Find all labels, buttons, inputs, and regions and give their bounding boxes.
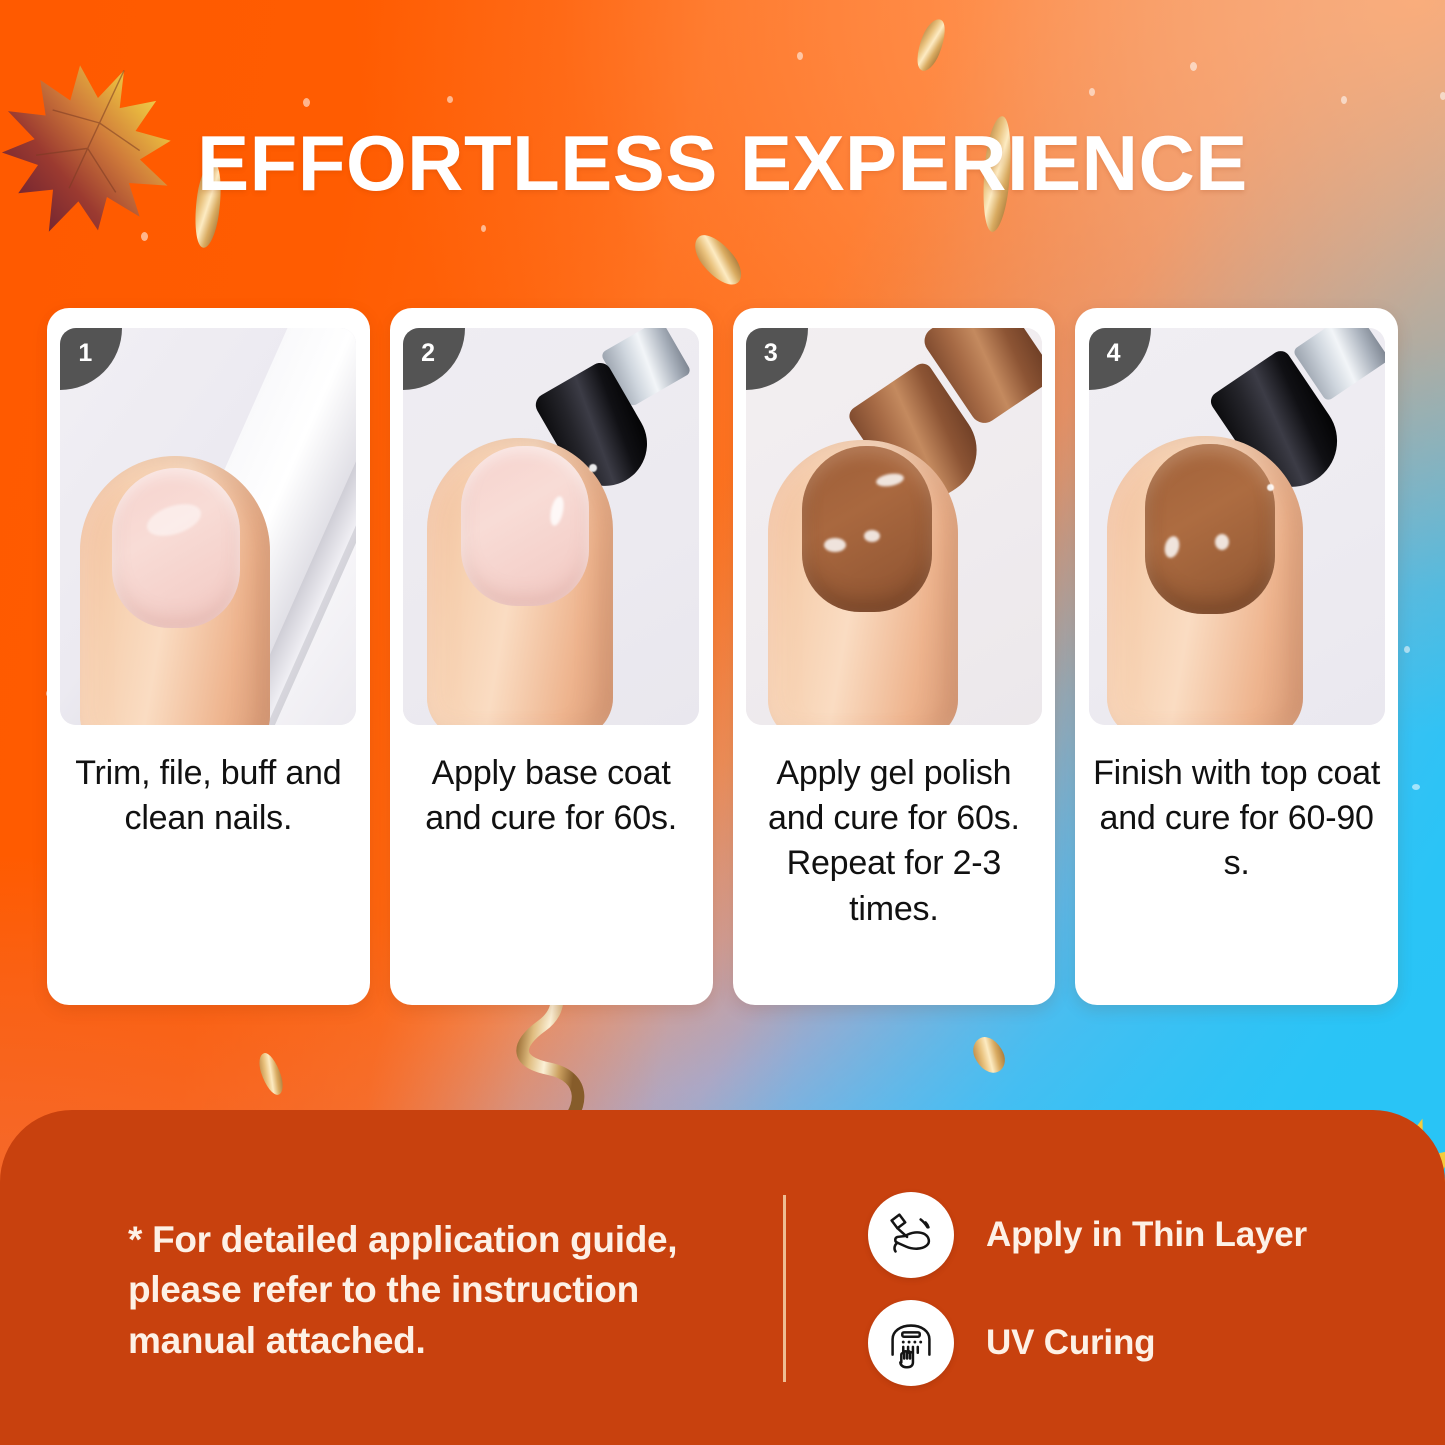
footer-divider (783, 1195, 786, 1382)
infographic-poster: EFFORTLESS EXPERIENCE 1 Trim, file, buff… (0, 0, 1445, 1445)
nail-illustration (802, 446, 932, 612)
step-card-2: 2 Apply base coat and cure for 60s. (390, 308, 713, 1005)
step-caption-1: Trim, file, buff and clean nails. (47, 751, 370, 841)
page-title: EFFORTLESS EXPERIENCE (0, 118, 1445, 209)
step-caption-3: Apply gel polish and cure for 60s. Repea… (733, 751, 1056, 932)
nail-illustration (1145, 444, 1275, 614)
step-number-3: 3 (764, 341, 778, 366)
photo-scene-4 (1089, 328, 1385, 725)
step-number-1: 1 (78, 341, 92, 366)
nail-highlight (1215, 534, 1229, 550)
step-photo-4: 4 (1089, 328, 1385, 725)
feature-label-uv-curing: UV Curing (986, 1323, 1155, 1363)
photo-scene-2 (403, 328, 699, 725)
step-card-1: 1 Trim, file, buff and clean nails. (47, 308, 370, 1005)
step-photo-2: 2 (403, 328, 699, 725)
photo-scene-1 (60, 328, 356, 725)
nail-illustration (112, 468, 240, 628)
step-caption-2: Apply base coat and cure for 60s. (390, 751, 713, 841)
step-photo-3: 3 (746, 328, 1042, 725)
feature-item-thin-layer: Apply in Thin Layer (868, 1192, 1307, 1278)
brush-thin-layer-icon (868, 1192, 954, 1278)
step-card-3: 3 Apply gel polish and cure for 60s. Rep… (733, 308, 1056, 1005)
step-card-4: 4 Finish with top coat and cure for 60-9… (1075, 308, 1398, 1005)
uv-lamp-hand-icon (868, 1300, 954, 1386)
feature-list: Apply in Thin Layer UV Cu (868, 1192, 1307, 1386)
footer-note: * For detailed application guide, please… (128, 1215, 748, 1366)
photo-scene-3 (746, 328, 1042, 725)
feature-item-uv-curing: UV Curing (868, 1300, 1307, 1386)
steps-card-row: 1 Trim, file, buff and clean nails. 2 (47, 308, 1398, 1005)
nail-highlight (864, 530, 880, 542)
step-photo-1: 1 (60, 328, 356, 725)
feature-label-thin-layer: Apply in Thin Layer (986, 1215, 1307, 1255)
step-number-2: 2 (421, 341, 435, 366)
step-number-4: 4 (1107, 341, 1121, 366)
step-caption-4: Finish with top coat and cure for 60-90 … (1075, 751, 1398, 887)
brush-specular-dot (1267, 484, 1274, 491)
nail-illustration (461, 446, 589, 606)
nail-highlight (824, 538, 846, 552)
